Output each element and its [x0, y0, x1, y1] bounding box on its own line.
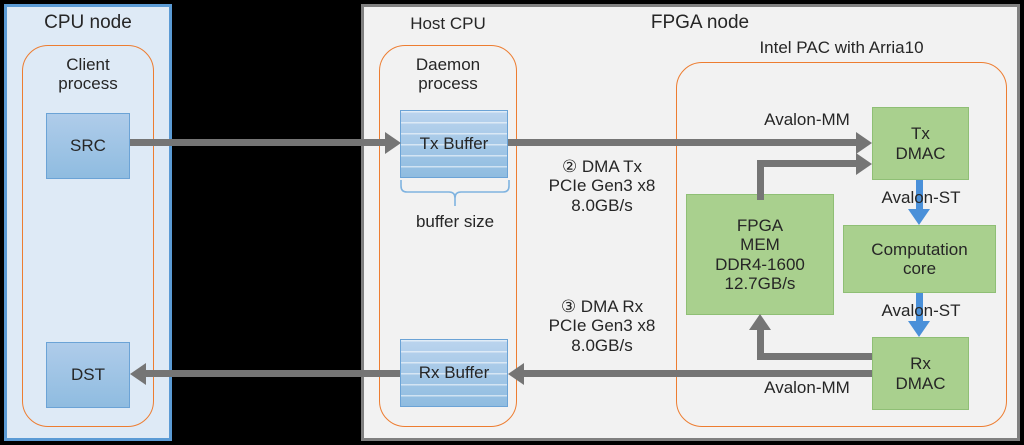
avalon-st-lower-label: Avalon-ST	[858, 299, 984, 323]
cpu-node-title: CPU node	[4, 10, 172, 36]
fpga-node-title: FPGA node	[600, 10, 800, 36]
rx-dmac-block: Rx DMAC	[872, 337, 969, 410]
buffer-size-label: buffer size	[385, 210, 525, 234]
src-block: SRC	[46, 113, 130, 179]
intel-pac-label: Intel PAC with Arria10	[676, 36, 1007, 60]
tx-dmac-label: Tx DMAC	[895, 124, 945, 162]
avalon-mm-bottom-label: Avalon-MM	[744, 376, 870, 400]
computation-core-block: Computation core	[843, 225, 996, 293]
dst-label: DST	[71, 365, 105, 384]
arrowhead-txbuffer-to-txdmac-icon	[856, 132, 872, 154]
src-label: SRC	[70, 136, 106, 155]
arrowhead-txdmac-to-compcore-icon	[908, 209, 930, 225]
connector-rxbuffer-to-dst	[146, 370, 400, 377]
arrowhead-compcore-to-rxdmac-icon	[908, 321, 930, 337]
avalon-st-upper-label: Avalon-ST	[858, 186, 984, 210]
rx-buffer-block: Rx Buffer	[400, 339, 508, 407]
arrowhead-fpgamem-to-txdmac-icon	[856, 153, 872, 175]
rx-dmac-label: Rx DMAC	[895, 354, 945, 392]
tx-dmac-block: Tx DMAC	[872, 107, 969, 180]
avalon-mm-top-label: Avalon-MM	[744, 108, 870, 132]
host-cpu-title: Host CPU	[379, 12, 517, 36]
dst-block: DST	[46, 342, 130, 408]
arrowhead-rxdmac-to-rxbuffer-icon	[508, 363, 524, 385]
dma-rx-annotation: ③ DMA Rx PCIe Gen3 x8 8.0GB/s	[524, 288, 680, 364]
dma-tx-annotation: ② DMA Tx PCIe Gen3 x8 8.0GB/s	[524, 148, 680, 224]
connector-rxdmac-to-fpgamem-horizontal	[757, 353, 872, 360]
computation-core-label: Computation core	[871, 240, 967, 278]
diagram-canvas: CPU node Client process SRC DST FPGA nod…	[0, 0, 1024, 445]
arrowhead-rxdmac-to-fpgamem-icon	[749, 314, 771, 330]
connector-rxdmac-to-fpgamem-vertical	[757, 330, 764, 353]
arrowhead-rxbuffer-to-dst-icon	[130, 363, 146, 385]
arrowhead-src-to-txbuffer-icon	[385, 132, 401, 154]
connector-txbuffer-to-txdmac	[508, 139, 856, 146]
fpga-mem-label: FPGA MEM DDR4-1600 12.7GB/s	[715, 216, 805, 292]
tx-buffer-block: Tx Buffer	[400, 110, 508, 178]
buffer-size-brace-icon	[398, 178, 512, 208]
tx-buffer-label: Tx Buffer	[420, 134, 489, 153]
daemon-process-label: Daemon process	[379, 50, 517, 98]
rx-buffer-label: Rx Buffer	[419, 363, 490, 382]
fpga-mem-block: FPGA MEM DDR4-1600 12.7GB/s	[686, 194, 834, 315]
client-process-label: Client process	[22, 50, 154, 98]
connector-src-to-txbuffer	[130, 139, 385, 146]
connector-fpgamem-to-txdmac-horizontal	[757, 160, 856, 167]
